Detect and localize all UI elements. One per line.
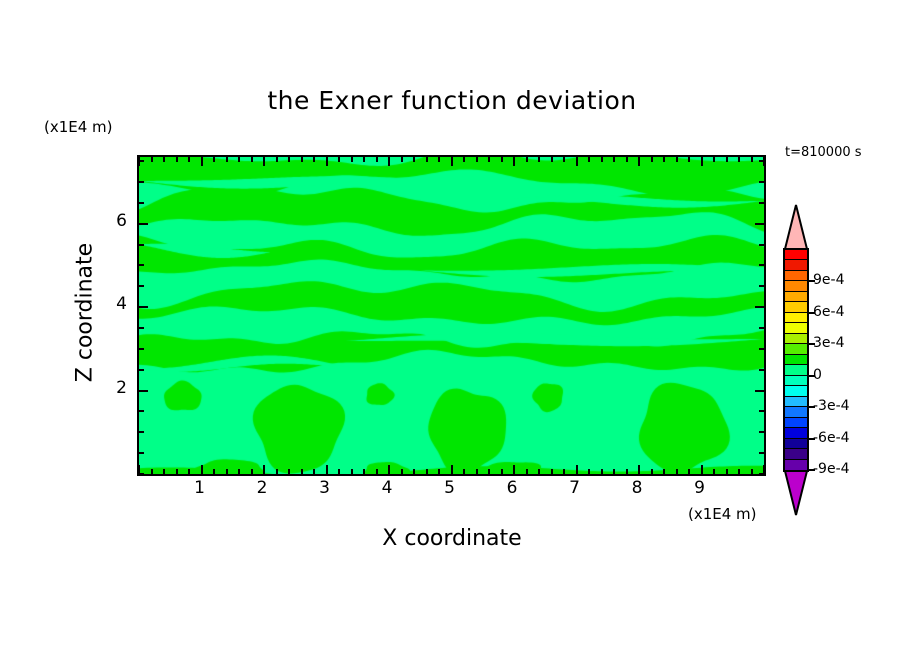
colorbar-band xyxy=(785,376,807,386)
x-tick-major xyxy=(701,157,703,166)
x-axis-title: X coordinate xyxy=(0,526,904,551)
contour-plot-area xyxy=(137,155,766,476)
x-tick-label: 6 xyxy=(492,478,532,498)
y-tick-label: 2 xyxy=(97,378,127,398)
x-tick-minor xyxy=(163,157,165,162)
colorbar-band xyxy=(785,449,807,459)
x-tick-major xyxy=(263,157,265,166)
x-tick-minor xyxy=(501,469,503,474)
x-tick-minor xyxy=(588,469,590,474)
x-tick-minor xyxy=(251,157,253,162)
colorbar-band xyxy=(785,281,807,291)
colorbar: 9e-46e-43e-40-3e-4-6e-4-9e-4 xyxy=(783,204,809,516)
x-tick-label: 9 xyxy=(680,478,720,498)
colorbar-band xyxy=(785,355,807,365)
x-tick-minor xyxy=(651,469,653,474)
x-tick-minor xyxy=(438,469,440,474)
x-tick-minor xyxy=(626,469,628,474)
x-tick-major xyxy=(263,465,265,474)
x-tick-minor xyxy=(526,469,528,474)
x-tick-minor xyxy=(601,469,603,474)
colorbar-band xyxy=(785,323,807,333)
x-tick-minor xyxy=(476,157,478,162)
x-tick-major xyxy=(638,157,640,166)
x-tick-minor xyxy=(151,157,153,162)
colorbar-band xyxy=(785,313,807,323)
x-tick-major xyxy=(576,157,578,166)
x-tick-minor xyxy=(313,469,315,474)
colorbar-band xyxy=(785,386,807,396)
x-tick-minor xyxy=(713,157,715,162)
x-tick-minor xyxy=(501,157,503,162)
y-tick-major xyxy=(755,306,764,308)
colorbar-band xyxy=(785,260,807,270)
y-tick-label: 6 xyxy=(97,211,127,231)
x-tick-minor xyxy=(476,469,478,474)
colorbar-band xyxy=(785,292,807,302)
x-tick-label: 5 xyxy=(430,478,470,498)
y-tick-minor xyxy=(139,181,144,183)
colorbar-band xyxy=(785,271,807,281)
x-tick-minor xyxy=(563,469,565,474)
y-tick-minor xyxy=(139,431,144,433)
x-tick-minor xyxy=(488,469,490,474)
colorbar-band xyxy=(785,344,807,354)
y-tick-major xyxy=(755,390,764,392)
x-tick-minor xyxy=(351,157,353,162)
x-tick-minor xyxy=(738,157,740,162)
x-tick-major xyxy=(388,157,390,166)
colorbar-label: 0 xyxy=(813,367,822,383)
colorbar-label: 3e-4 xyxy=(813,335,844,351)
x-tick-major xyxy=(326,157,328,166)
x-tick-minor xyxy=(551,157,553,162)
x-tick-minor xyxy=(301,469,303,474)
x-tick-label: 2 xyxy=(242,478,282,498)
x-tick-minor xyxy=(551,469,553,474)
x-tick-minor xyxy=(313,157,315,162)
colorbar-band xyxy=(785,460,807,470)
x-tick-minor xyxy=(376,469,378,474)
x-tick-minor xyxy=(163,469,165,474)
x-tick-minor xyxy=(176,157,178,162)
y-tick-minor xyxy=(759,285,764,287)
x-axis-unit-label: (x1E4 m) xyxy=(688,505,757,523)
x-tick-minor xyxy=(601,157,603,162)
x-tick-minor xyxy=(363,157,365,162)
colorbar-label: 6e-4 xyxy=(813,304,844,320)
x-tick-label: 4 xyxy=(367,478,407,498)
y-tick-minor xyxy=(139,452,144,454)
x-tick-minor xyxy=(226,157,228,162)
x-tick-minor xyxy=(363,469,365,474)
y-tick-minor xyxy=(759,348,764,350)
x-tick-minor xyxy=(688,157,690,162)
x-tick-major xyxy=(326,465,328,474)
x-tick-minor xyxy=(276,157,278,162)
y-tick-label: 4 xyxy=(97,294,127,314)
x-tick-minor xyxy=(226,469,228,474)
x-tick-minor xyxy=(676,157,678,162)
y-tick-minor xyxy=(759,202,764,204)
colorbar-band xyxy=(785,418,807,428)
x-tick-minor xyxy=(351,469,353,474)
y-tick-minor xyxy=(139,285,144,287)
x-tick-minor xyxy=(251,469,253,474)
y-axis-title: Z coordinate xyxy=(73,203,98,423)
y-tick-major xyxy=(139,306,148,308)
colorbar-bands xyxy=(783,248,809,472)
page-title: the Exner function deviation xyxy=(0,86,904,115)
colorbar-cap-top-icon xyxy=(783,204,809,250)
colorbar-band xyxy=(785,407,807,417)
x-tick-label: 1 xyxy=(180,478,220,498)
y-tick-minor xyxy=(759,431,764,433)
y-tick-minor xyxy=(139,264,144,266)
x-tick-minor xyxy=(151,469,153,474)
x-tick-major xyxy=(451,465,453,474)
y-tick-minor xyxy=(139,369,144,371)
y-tick-minor xyxy=(759,160,764,162)
x-tick-minor xyxy=(726,469,728,474)
x-tick-minor xyxy=(301,157,303,162)
colorbar-cap-bottom-icon xyxy=(783,470,809,516)
y-tick-major xyxy=(755,223,764,225)
x-tick-major xyxy=(576,465,578,474)
colorbar-band xyxy=(785,439,807,449)
x-tick-minor xyxy=(338,157,340,162)
y-tick-minor xyxy=(139,473,144,475)
x-tick-minor xyxy=(726,157,728,162)
x-tick-minor xyxy=(688,469,690,474)
x-tick-minor xyxy=(563,157,565,162)
figure-canvas: the Exner function deviation (x1E4 m) (x… xyxy=(0,0,904,654)
x-tick-minor xyxy=(238,157,240,162)
colorbar-band xyxy=(785,250,807,260)
x-tick-minor xyxy=(463,469,465,474)
x-tick-minor xyxy=(538,469,540,474)
colorbar-label: -3e-4 xyxy=(813,398,850,414)
x-tick-minor xyxy=(288,469,290,474)
colorbar-label: -9e-4 xyxy=(813,461,850,477)
y-tick-minor xyxy=(759,473,764,475)
x-tick-major xyxy=(451,157,453,166)
x-tick-minor xyxy=(276,469,278,474)
x-tick-minor xyxy=(663,469,665,474)
x-tick-minor xyxy=(426,157,428,162)
y-tick-minor xyxy=(759,244,764,246)
x-tick-minor xyxy=(238,469,240,474)
colorbar-band xyxy=(785,302,807,312)
y-tick-major xyxy=(139,223,148,225)
x-tick-minor xyxy=(188,157,190,162)
colorbar-label: 9e-4 xyxy=(813,272,844,288)
y-tick-minor xyxy=(759,181,764,183)
x-tick-minor xyxy=(626,157,628,162)
x-tick-minor xyxy=(588,157,590,162)
x-tick-minor xyxy=(488,157,490,162)
x-tick-minor xyxy=(751,469,753,474)
colorbar-band xyxy=(785,397,807,407)
y-tick-minor xyxy=(139,244,144,246)
x-tick-major xyxy=(513,157,515,166)
colorbar-band xyxy=(785,334,807,344)
x-tick-minor xyxy=(651,157,653,162)
x-tick-minor xyxy=(413,469,415,474)
x-tick-minor xyxy=(713,469,715,474)
colorbar-label: -6e-4 xyxy=(813,430,850,446)
x-tick-minor xyxy=(463,157,465,162)
y-tick-minor xyxy=(139,327,144,329)
x-tick-minor xyxy=(613,157,615,162)
x-tick-minor xyxy=(338,469,340,474)
x-tick-minor xyxy=(676,469,678,474)
x-tick-major xyxy=(638,465,640,474)
x-tick-minor xyxy=(188,469,190,474)
x-tick-major xyxy=(201,465,203,474)
x-tick-minor xyxy=(213,469,215,474)
x-tick-minor xyxy=(376,157,378,162)
x-tick-minor xyxy=(526,157,528,162)
y-tick-minor xyxy=(759,327,764,329)
x-tick-minor xyxy=(538,157,540,162)
y-tick-minor xyxy=(759,369,764,371)
y-axis-unit-label: (x1E4 m) xyxy=(44,118,113,136)
x-tick-minor xyxy=(401,157,403,162)
x-tick-label: 8 xyxy=(617,478,657,498)
y-tick-major xyxy=(139,390,148,392)
contour-field xyxy=(139,157,764,474)
x-tick-label: 7 xyxy=(555,478,595,498)
y-tick-minor xyxy=(759,264,764,266)
x-tick-minor xyxy=(413,157,415,162)
x-tick-minor xyxy=(401,469,403,474)
x-tick-minor xyxy=(176,469,178,474)
x-tick-major xyxy=(201,157,203,166)
x-tick-minor xyxy=(426,469,428,474)
y-tick-minor xyxy=(759,452,764,454)
x-tick-major xyxy=(701,465,703,474)
x-tick-major xyxy=(513,465,515,474)
x-tick-minor xyxy=(751,157,753,162)
y-tick-minor xyxy=(139,410,144,412)
x-tick-label: 3 xyxy=(305,478,345,498)
colorbar-band xyxy=(785,428,807,438)
x-tick-minor xyxy=(213,157,215,162)
x-tick-minor xyxy=(738,469,740,474)
colorbar-band xyxy=(785,365,807,375)
x-tick-minor xyxy=(438,157,440,162)
y-tick-minor xyxy=(139,202,144,204)
x-tick-minor xyxy=(613,469,615,474)
x-tick-major xyxy=(388,465,390,474)
x-tick-minor xyxy=(663,157,665,162)
y-tick-minor xyxy=(759,410,764,412)
y-tick-minor xyxy=(139,160,144,162)
y-tick-minor xyxy=(139,348,144,350)
timestamp-label: t=810000 s xyxy=(785,145,862,160)
x-tick-minor xyxy=(288,157,290,162)
